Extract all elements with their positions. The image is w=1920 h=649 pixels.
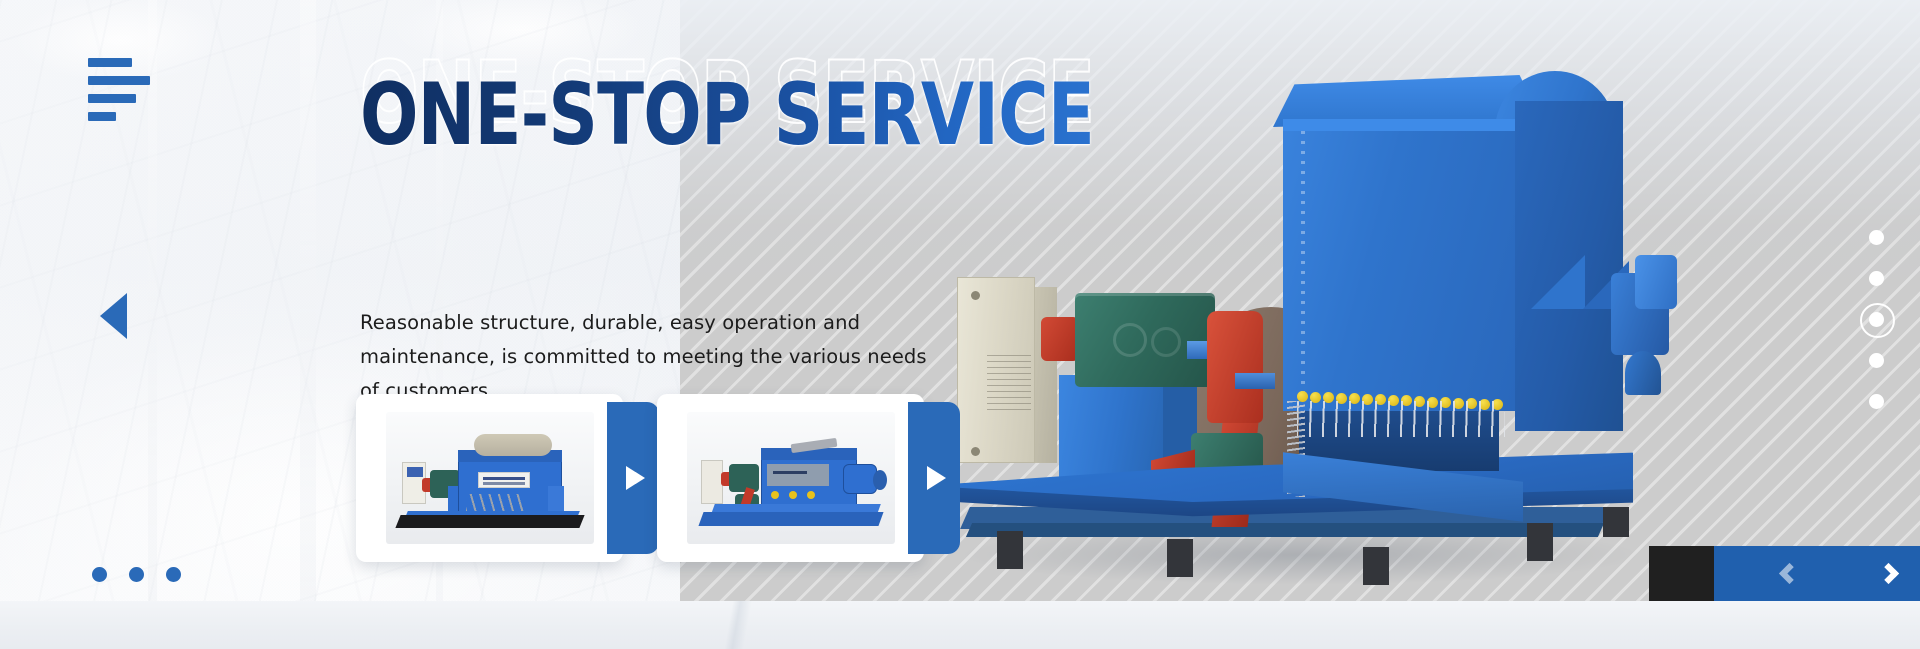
decorative-left-triangle-icon <box>100 293 127 339</box>
hero-banner: ONE-STOP SERVICE ONE-STOP SERVICE Reason… <box>0 0 1920 649</box>
headline-wrap: ONE-STOP SERVICE ONE-STOP SERVICE <box>360 72 1220 182</box>
thumbnail-list <box>356 394 924 562</box>
nav-arrow-bar <box>1714 546 1920 601</box>
pagination-dot-4[interactable] <box>1869 353 1884 368</box>
banner-subtitle: Reasonable structure, durable, easy oper… <box>360 306 945 408</box>
pagination-dot-5[interactable] <box>1869 394 1884 409</box>
play-icon[interactable] <box>908 402 960 554</box>
thumbnail-card-1[interactable] <box>356 394 623 562</box>
pagination-dot-3[interactable] <box>1869 312 1884 327</box>
decorative-bars-icon <box>88 58 150 130</box>
play-icon[interactable] <box>607 402 659 554</box>
decorative-dots-icon <box>92 567 181 582</box>
page-title: ONE-STOP SERVICE <box>360 72 1094 158</box>
pagination-dot-2[interactable] <box>1869 271 1884 286</box>
nav-accent-block <box>1649 546 1714 601</box>
thumbnail-card-2[interactable] <box>657 394 924 562</box>
slider-navigation <box>1649 546 1920 601</box>
thumbnail-image-2 <box>687 412 895 544</box>
thumbnail-image-1 <box>386 412 594 544</box>
pagination-dot-1[interactable] <box>1869 230 1884 245</box>
chevron-right-icon[interactable] <box>1878 563 1899 584</box>
slide-pagination <box>1869 230 1884 409</box>
chevron-left-icon[interactable] <box>1779 563 1800 584</box>
floor-strip <box>0 601 1920 649</box>
